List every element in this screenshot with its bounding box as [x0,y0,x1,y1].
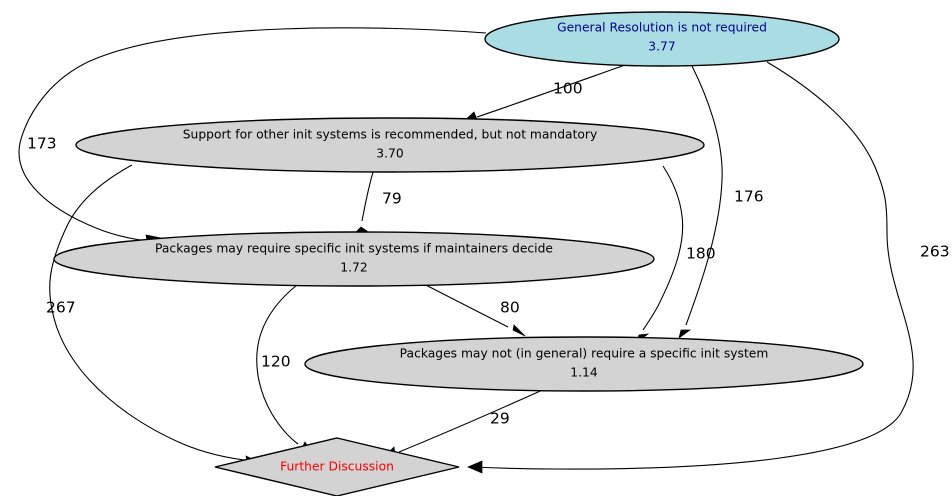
node-value-packages-may-require: 1.72 [340,261,367,275]
arrow-head-263 [468,461,482,473]
edge-path-29 [399,388,547,452]
node-label-packages-may-require: Packages may require specific init syste… [155,242,553,256]
edge-path-80 [420,282,508,327]
node-support-other-init-systems[interactable]: Support for other init systems is recomm… [76,118,704,172]
edge-label-100: 100 [553,80,583,98]
edge-support-to-further: 267 [46,165,258,467]
edge-label-79: 79 [382,190,402,208]
node-value-support-other: 3.70 [376,147,403,161]
edge-path-79 [362,172,373,221]
node-packages-may-require[interactable]: Packages may require specific init syste… [54,232,654,286]
node-general-resolution-not-required[interactable]: General Resolution is not required 3.77 [485,12,839,66]
edge-gr-to-support: 100 [462,65,625,123]
edge-require-to-maynot: 80 [420,282,525,336]
graph-svg: 100 173 176 263 [0,0,952,496]
edge-label-120: 120 [261,353,291,371]
edge-path-176 [686,66,722,325]
node-label-support-other: Support for other init systems is recomm… [183,128,598,142]
edge-label-80: 80 [500,299,520,317]
node-value-general-resolution: 3.77 [648,40,675,54]
node-layer: General Resolution is not required 3.77 … [54,12,863,496]
edge-path-100 [477,65,625,117]
node-label-general-resolution: General Resolution is not required [557,21,767,35]
edge-path-180 [643,166,683,330]
edge-path-267 [50,165,253,461]
node-packages-may-not[interactable]: Packages may not (in general) require a … [305,337,863,391]
edge-label-176: 176 [734,188,764,206]
edge-label-173: 173 [27,135,57,153]
node-value-packages-may-not: 1.14 [570,366,598,380]
node-shape-support-other[interactable] [76,118,704,172]
edge-label-267: 267 [46,299,76,317]
edge-require-to-further: 120 [257,285,311,452]
node-label-packages-may-not: Packages may not (in general) require a … [400,347,769,361]
edge-support-to-require: 79 [355,172,402,233]
node-further-discussion[interactable]: Further Discussion [215,438,459,496]
diagram-canvas: 100 173 176 263 [0,0,952,496]
edge-label-180: 180 [686,245,716,263]
edge-label-263: 263 [920,243,950,261]
edge-label-29: 29 [490,410,510,428]
node-shape-packages-may-require[interactable] [54,232,654,286]
arrow-head-80 [513,325,525,336]
node-label-further-discussion: Further Discussion [280,460,394,474]
edge-gr-to-maynot: 176 [679,66,764,338]
edge-maynot-to-further: 29 [383,388,547,458]
node-shape-packages-may-not[interactable] [305,337,863,391]
arrow-head-176 [679,330,690,338]
